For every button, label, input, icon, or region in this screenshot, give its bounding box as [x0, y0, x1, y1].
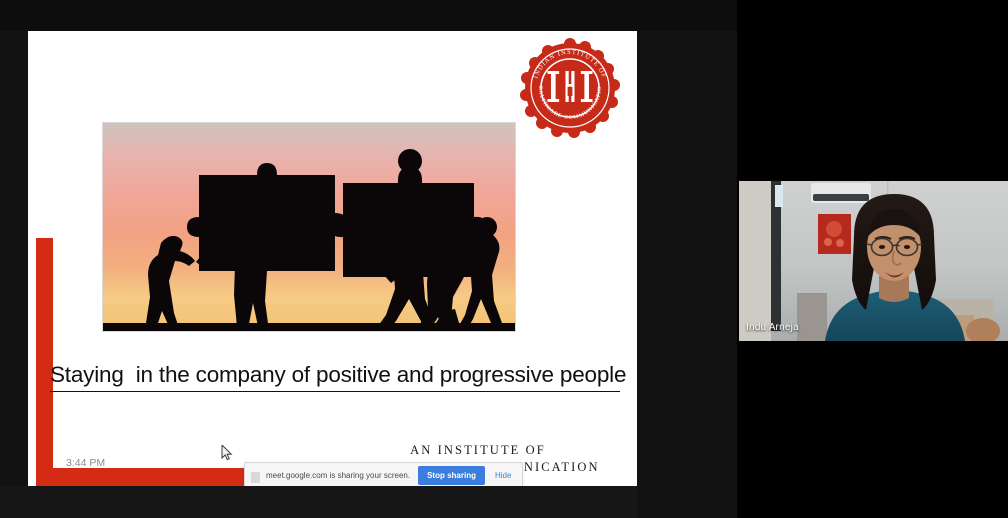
meeting-screen: INDIAN INSTITUTE OF HEALTHCARE COMMUNICA…: [0, 0, 1008, 518]
stage-letterbox-top: [0, 0, 737, 31]
screen-share-notification-bar[interactable]: meet.google.com is sharing your screen. …: [244, 462, 523, 486]
mouse-pointer-icon: [221, 445, 233, 461]
screen-share-icon: [251, 470, 260, 481]
participant-video-tile[interactable]: Indu Arneja: [739, 181, 1008, 341]
share-message: meet.google.com is sharing your screen.: [266, 471, 410, 480]
slide-clock: 3:44 PM: [66, 457, 105, 469]
slide-heading: Staying in the company of positive and p…: [50, 362, 620, 392]
slide-photo-puzzle-silhouettes: [102, 122, 516, 332]
institute-logo-icon: INDIAN INSTITUTE OF HEALTHCARE COMMUNICA…: [520, 38, 620, 138]
footer-institute-line: AN INSTITUTE OF: [328, 443, 628, 458]
participant-name-label: Indu Arneja: [746, 322, 799, 333]
presentation-slide[interactable]: INDIAN INSTITUTE OF HEALTHCARE COMMUNICA…: [28, 31, 637, 486]
stage-letterbox-bottom: [0, 486, 637, 518]
stop-sharing-button[interactable]: Stop sharing: [418, 466, 485, 485]
hide-link[interactable]: Hide: [495, 471, 511, 480]
